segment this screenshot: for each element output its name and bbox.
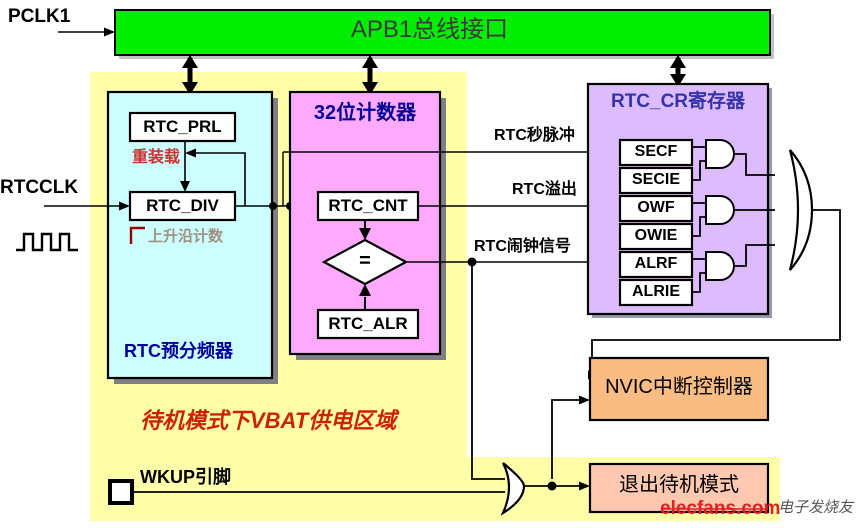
flag-label-owf: OWF xyxy=(620,200,692,216)
signal-label-alarm: RTC闹钟信号 xyxy=(474,239,571,255)
watermark-site: elecfans.com xyxy=(660,499,780,518)
watermark-brand: 电子发烧友 xyxy=(778,500,853,515)
exit-standby-label: 退出待机模式 xyxy=(590,475,768,495)
diagram-canvas xyxy=(0,0,859,528)
alarm-to-wakeup-path xyxy=(472,262,505,479)
rtc-cnt-label: RTC_CNT xyxy=(318,197,418,214)
flag-label-secf: SECF xyxy=(620,144,692,160)
rtc-div-label: RTC_DIV xyxy=(130,197,235,214)
rising-edge-label: 上升沿计数 xyxy=(148,229,223,244)
counter-title: 32位计数器 xyxy=(290,103,440,123)
flag-label-alrie: ALRIE xyxy=(620,284,692,300)
rtc-prl-label: RTC_PRL xyxy=(130,118,235,135)
signal-label-overflow: RTC溢出 xyxy=(512,182,577,198)
rtc-block-diagram: PCLK1 RTCCLK APB1总线接口 RTC_PRL RTC_DIV 重装… xyxy=(0,0,859,528)
prescaler-title: RTC预分频器 xyxy=(124,342,233,360)
rtc-alr-label: RTC_ALR xyxy=(318,315,418,332)
flag-label-alrf: ALRF xyxy=(620,256,692,272)
vbat-region-label: 待机模式下VBAT供电区域 xyxy=(140,410,396,432)
wkup-pin-label: WKUP引脚 xyxy=(140,468,231,486)
wkup-pin-square[interactable] xyxy=(110,481,132,503)
nvic-label: NVIC中断控制器 xyxy=(590,377,768,397)
control-register-title: RTC_CR寄存器 xyxy=(588,92,768,111)
compare-symbol-label: = xyxy=(345,251,385,271)
nvic-lower-arrowhead xyxy=(579,396,590,405)
flag-label-secie: SECIE xyxy=(620,172,692,188)
reload-label: 重装载 xyxy=(132,150,180,166)
signal-label-seconds: RTC秒脉冲 xyxy=(494,128,575,144)
flag-label-owie: OWIE xyxy=(620,228,692,244)
rtcclk-label: RTCCLK xyxy=(0,178,78,197)
apb1-bus-label: APB1总线接口 xyxy=(0,18,859,42)
div-output-junction-dot xyxy=(269,202,277,210)
bus-arrow-control-register xyxy=(670,55,686,87)
rtcclk-waveform-icon xyxy=(16,234,78,250)
